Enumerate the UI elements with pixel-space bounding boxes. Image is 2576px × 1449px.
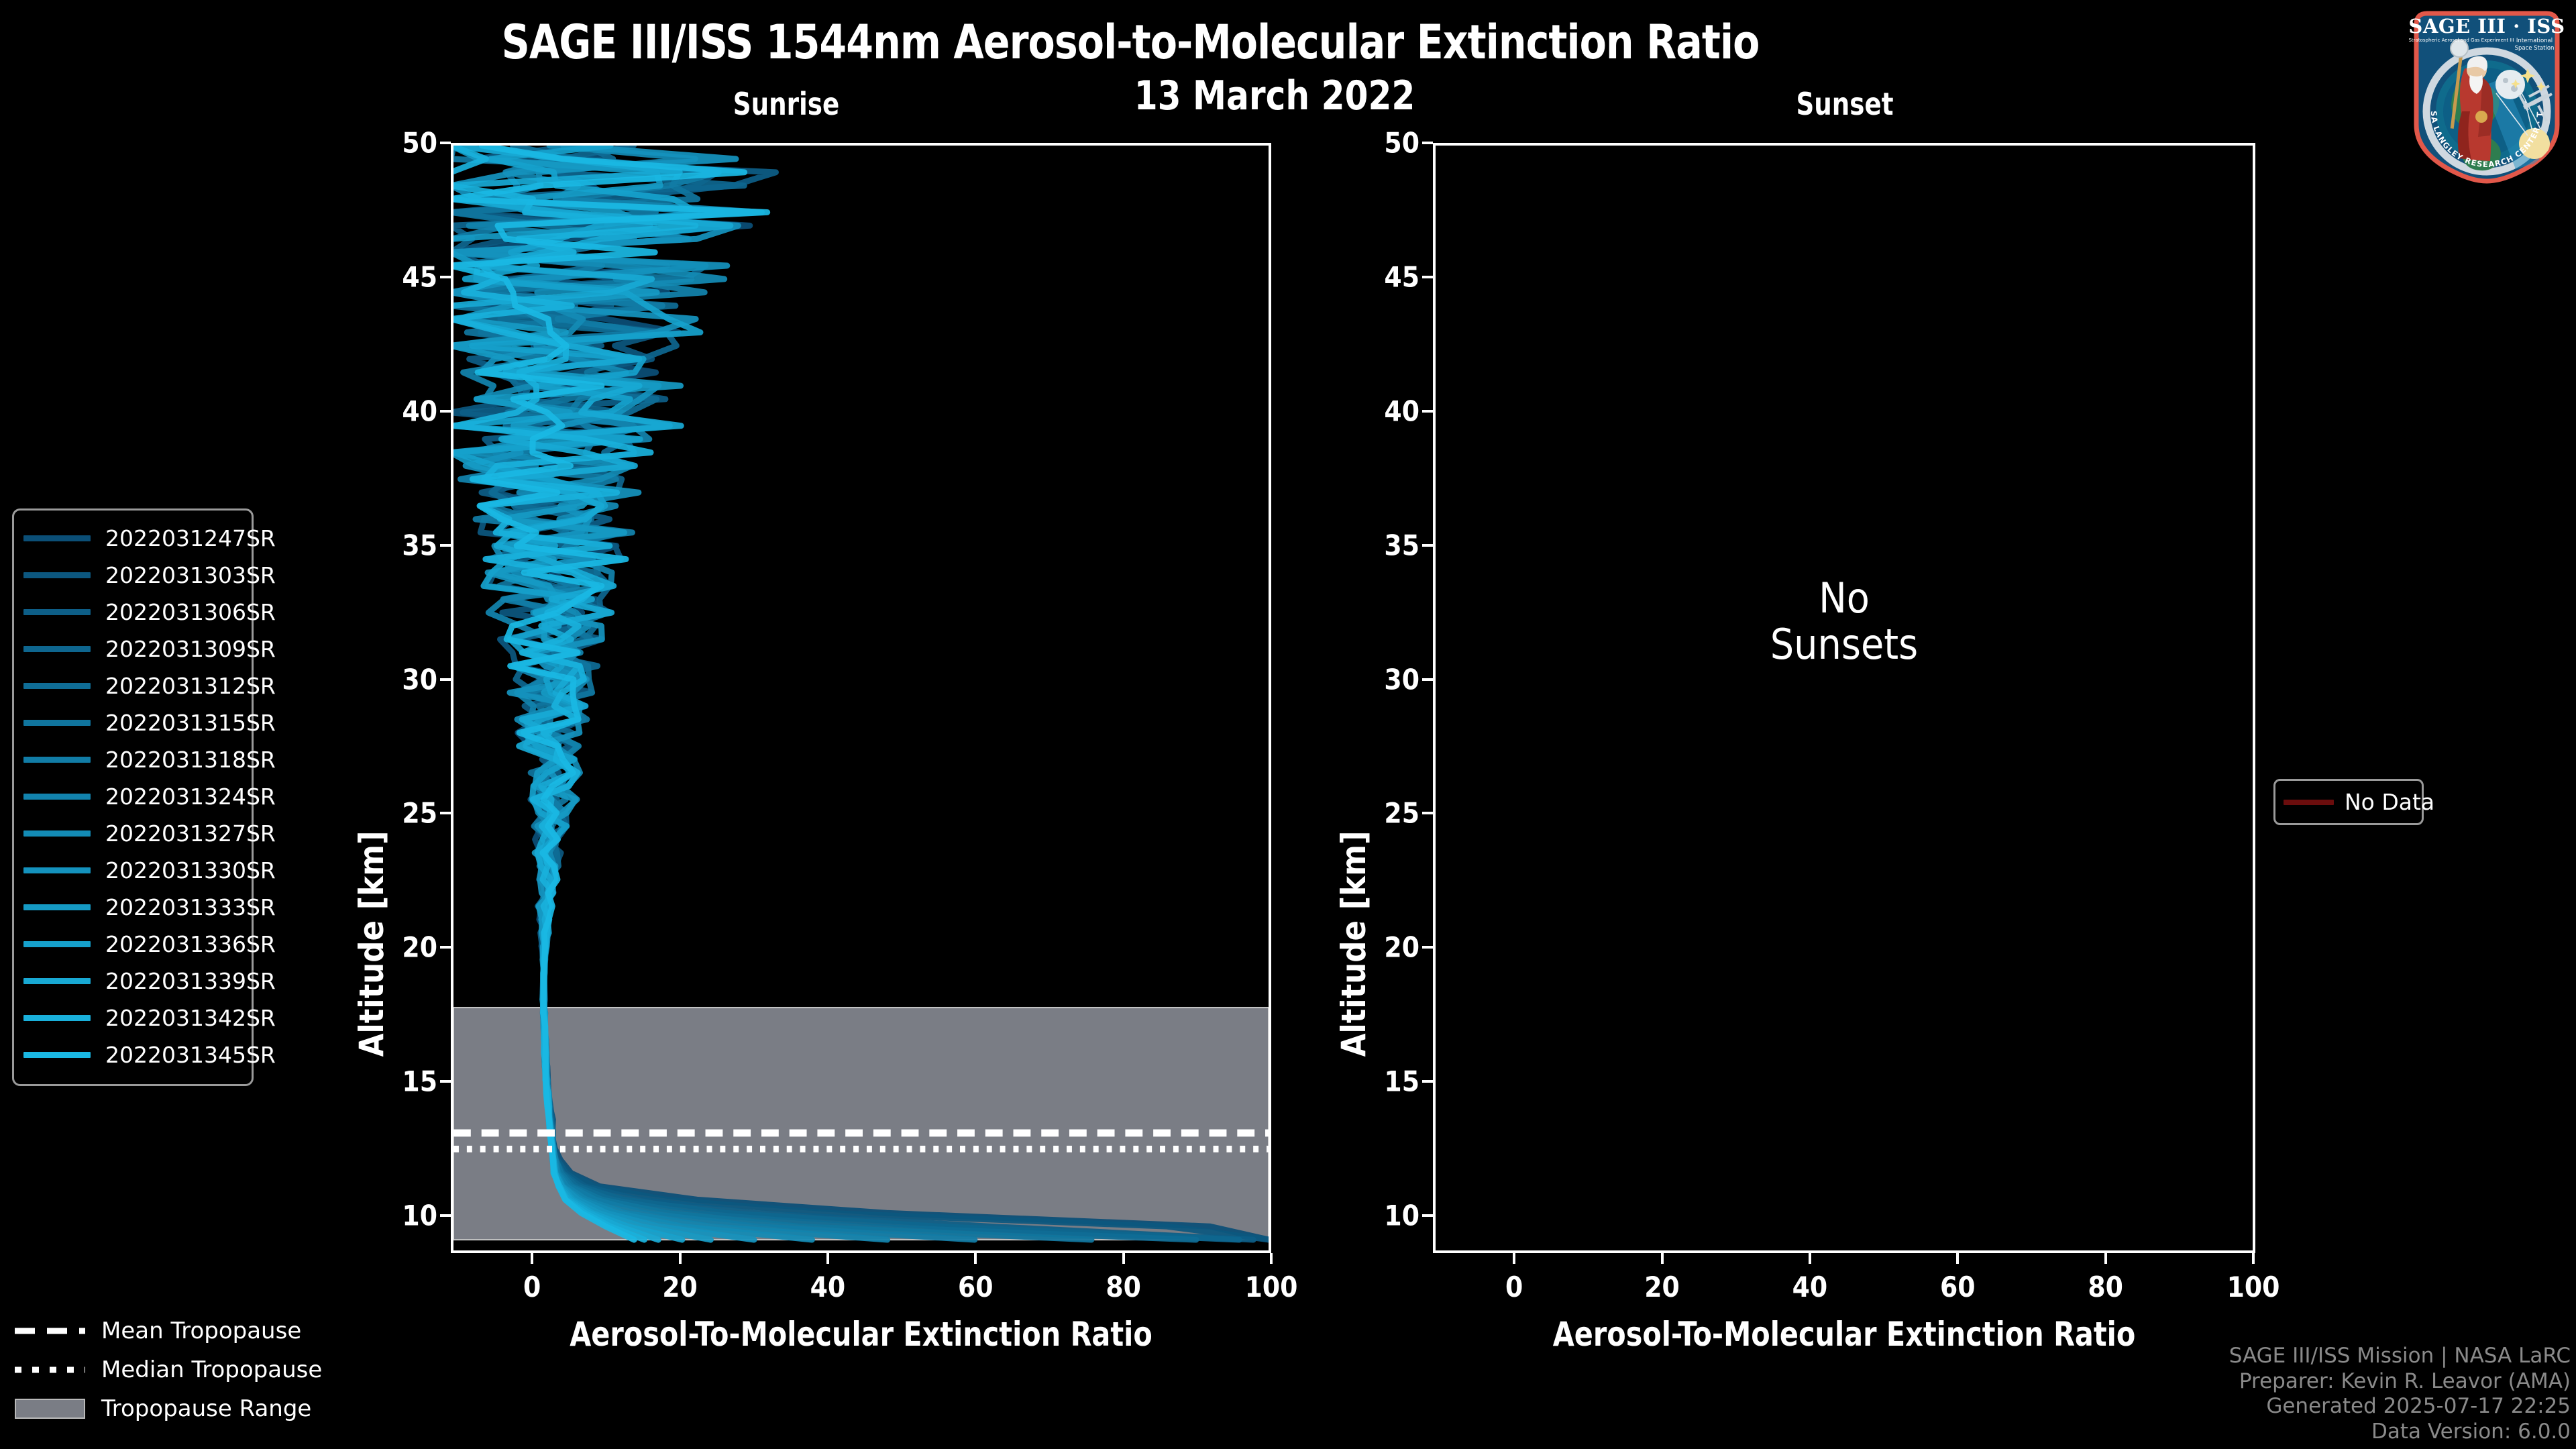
y-tick-label: 25 xyxy=(402,797,437,830)
y-tick-label: 15 xyxy=(402,1065,437,1098)
y-tick-mark xyxy=(440,544,451,547)
legend-color-swatch xyxy=(23,1015,91,1021)
y-tick-label: 50 xyxy=(1384,127,1419,160)
y-tick-mark xyxy=(440,1214,451,1217)
legend-color-swatch xyxy=(23,978,91,984)
y-tick-mark xyxy=(1422,410,1433,413)
sunrise-plot-canvas xyxy=(453,146,1269,1250)
x-tick-mark xyxy=(1513,1253,1515,1264)
x-axis-label-right: Aerosol-To-Molecular Extinction Ratio xyxy=(1466,1315,2222,1354)
legend-color-swatch xyxy=(23,941,91,947)
legend-item[interactable]: 2022031315SR xyxy=(23,704,245,741)
filled-box-icon xyxy=(15,1400,85,1417)
sunrise-panel-heading: Sunrise xyxy=(665,86,907,122)
y-tick-mark xyxy=(440,142,451,144)
y-tick-mark xyxy=(1422,276,1433,278)
footer-line-version: Data Version: 6.0.0 xyxy=(2229,1419,2571,1445)
legend-item-label: 2022031342SR xyxy=(105,1005,276,1031)
no-sunsets-line2: Sunsets xyxy=(1436,621,2253,667)
logo-subtitle-right-1: International xyxy=(2516,38,2553,44)
legend-item[interactable]: 2022031312SR xyxy=(23,667,245,704)
legend-color-swatch xyxy=(23,683,91,689)
y-tick-mark xyxy=(1422,1080,1433,1083)
x-tick-label: 20 xyxy=(662,1271,698,1303)
legend-color-swatch xyxy=(23,609,91,615)
y-tick-mark xyxy=(440,410,451,413)
legend-item[interactable]: 2022031339SR xyxy=(23,963,245,1000)
tropopause-legend-item: Tropopause Range xyxy=(15,1389,364,1428)
legend-color-swatch xyxy=(23,757,91,763)
no-data-legend[interactable]: No Data xyxy=(2273,779,2424,825)
tropopause-legend-item: Mean Tropopause xyxy=(15,1311,364,1350)
legend-item[interactable]: 2022031247SR xyxy=(23,520,245,557)
legend-item-label: 2022031312SR xyxy=(105,673,276,699)
legend-color-swatch xyxy=(23,867,91,873)
x-tick-mark xyxy=(826,1253,829,1264)
y-tick-mark xyxy=(1422,946,1433,949)
legend-item-label: 2022031327SR xyxy=(105,820,276,847)
x-tick-label: 100 xyxy=(2227,1271,2280,1303)
legend-item-label: 2022031345SR xyxy=(105,1042,276,1068)
x-tick-label: 60 xyxy=(958,1271,994,1303)
logo-subtitle-right-2: Space Station xyxy=(2515,45,2555,52)
footer-attribution: SAGE III/ISS Mission | NASA LaRC Prepare… xyxy=(2229,1344,2571,1445)
y-tick-label: 45 xyxy=(402,260,437,293)
x-tick-label: 20 xyxy=(1644,1271,1680,1303)
y-tick-mark xyxy=(440,276,451,278)
x-tick-mark xyxy=(974,1253,977,1264)
sunrise-plot xyxy=(451,143,1271,1253)
y-tick-mark xyxy=(440,812,451,814)
y-tick-mark xyxy=(1422,142,1433,144)
y-tick-label: 40 xyxy=(402,394,437,427)
x-tick-mark xyxy=(2104,1253,2107,1264)
legend-color-swatch xyxy=(23,794,91,800)
legend-item[interactable]: 2022031306SR xyxy=(23,594,245,631)
legend-color-swatch xyxy=(23,535,91,541)
legend-item-label: 2022031247SR xyxy=(105,525,276,551)
legend-item[interactable]: 2022031309SR xyxy=(23,631,245,667)
tropopause-legend-item: Median Tropopause xyxy=(15,1350,364,1389)
y-tick-label: 35 xyxy=(402,529,437,561)
y-tick-label: 35 xyxy=(1384,529,1419,561)
x-tick-label: 60 xyxy=(1940,1271,1976,1303)
no-sunsets-line1: No xyxy=(1436,575,2253,621)
date-subtitle: 13 March 2022 xyxy=(1025,72,1524,119)
legend-item-label: 2022031315SR xyxy=(105,710,276,736)
logo-subtitle-left: Stratospheric Aerosol and Gas Experiment… xyxy=(2408,38,2514,43)
legend-item-label: 2022031339SR xyxy=(105,968,276,994)
y-tick-mark xyxy=(1422,812,1433,814)
y-tick-mark xyxy=(1422,544,1433,547)
tropopause-legend-label: Mean Tropopause xyxy=(101,1318,301,1344)
legend-color-swatch xyxy=(23,904,91,910)
legend-item-label: 2022031309SR xyxy=(105,636,276,662)
y-tick-label: 15 xyxy=(1384,1065,1419,1098)
y-tick-label: 20 xyxy=(402,931,437,964)
y-tick-mark xyxy=(1422,1214,1433,1217)
x-tick-mark xyxy=(679,1253,682,1264)
x-tick-label: 80 xyxy=(2088,1271,2123,1303)
y-tick-label: 10 xyxy=(402,1199,437,1232)
legend-item[interactable]: 2022031318SR xyxy=(23,741,245,778)
tropopause-legend-label: Tropopause Range xyxy=(101,1395,311,1422)
x-axis-label-left: Aerosol-To-Molecular Extinction Ratio xyxy=(484,1315,1238,1354)
legend-color-swatch xyxy=(23,646,91,652)
x-tick-mark xyxy=(531,1253,533,1264)
x-tick-label: 40 xyxy=(1792,1271,1828,1303)
x-tick-mark xyxy=(1956,1253,1959,1264)
footer-line-generated: Generated 2025-07-17 22:25 xyxy=(2229,1394,2571,1419)
tropopause-legend-label: Median Tropopause xyxy=(101,1356,322,1383)
legend-item[interactable]: 2022031324SR xyxy=(23,778,245,815)
legend-color-swatch xyxy=(23,720,91,726)
x-tick-mark xyxy=(1270,1253,1273,1264)
x-tick-mark xyxy=(1809,1253,1811,1264)
y-axis-label-left: Altitude [km] xyxy=(352,830,391,1057)
legend-item[interactable]: 2022031303SR xyxy=(23,557,245,594)
x-tick-label: 80 xyxy=(1106,1271,1141,1303)
sage-iii-iss-mission-patch-logo: BALL · NASA LANGLEY RESEARCH CENTER · TA… xyxy=(2403,4,2571,185)
legend-item-label: 2022031318SR xyxy=(105,747,276,773)
page-title: SAGE III/ISS 1544nm Aerosol-to-Molecular… xyxy=(79,15,2182,70)
legend-item-label: 2022031330SR xyxy=(105,857,276,883)
mission-patch-icon: BALL · NASA LANGLEY RESEARCH CENTER · TA… xyxy=(2403,4,2571,185)
series-legend[interactable]: 2022031247SR2022031303SR2022031306SR2022… xyxy=(12,508,254,1086)
y-tick-label: 45 xyxy=(1384,260,1419,293)
x-tick-mark xyxy=(2252,1253,2255,1264)
no-data-swatch xyxy=(2284,800,2334,805)
y-axis-label-right: Altitude [km] xyxy=(1334,830,1373,1057)
y-tick-label: 20 xyxy=(1384,931,1419,964)
legend-item-label: 2022031333SR xyxy=(105,894,276,920)
legend-item[interactable]: 2022031330SR xyxy=(23,852,245,889)
y-tick-label: 25 xyxy=(1384,797,1419,830)
legend-color-swatch xyxy=(23,830,91,837)
no-data-label: No Data xyxy=(2345,789,2434,815)
y-tick-mark xyxy=(1422,678,1433,681)
legend-item-label: 2022031306SR xyxy=(105,599,276,625)
x-tick-label: 0 xyxy=(1505,1271,1523,1303)
footer-line-preparer: Preparer: Kevin R. Leavor (AMA) xyxy=(2229,1369,2571,1395)
y-tick-label: 30 xyxy=(402,663,437,696)
y-tick-label: 40 xyxy=(1384,394,1419,427)
legend-color-swatch xyxy=(23,572,91,578)
x-tick-label: 100 xyxy=(1245,1271,1298,1303)
dashed-line-icon xyxy=(15,1322,85,1340)
sunset-plot: No Sunsets xyxy=(1433,143,2255,1253)
legend-item-label: 2022031303SR xyxy=(105,562,276,588)
legend-item[interactable]: 2022031342SR xyxy=(23,1000,245,1036)
dotted-line-icon xyxy=(15,1361,85,1379)
logo-title: SAGE III · ISS xyxy=(2408,15,2565,38)
y-tick-label: 10 xyxy=(1384,1199,1419,1232)
legend-item-label: 2022031324SR xyxy=(105,784,276,810)
sunset-panel-heading: Sunset xyxy=(1724,86,1966,122)
x-tick-mark xyxy=(1661,1253,1664,1264)
y-tick-mark xyxy=(440,678,451,681)
legend-item[interactable]: 2022031345SR xyxy=(23,1036,245,1073)
tropopause-legend: Mean TropopauseMedian TropopauseTropopau… xyxy=(15,1311,364,1428)
x-tick-mark xyxy=(1122,1253,1125,1264)
y-tick-label: 50 xyxy=(402,127,437,160)
x-tick-label: 40 xyxy=(810,1271,846,1303)
legend-item-label: 2022031336SR xyxy=(105,931,276,957)
no-sunsets-message: No Sunsets xyxy=(1436,575,2253,668)
x-tick-label: 0 xyxy=(523,1271,541,1303)
footer-line-mission: SAGE III/ISS Mission | NASA LaRC xyxy=(2229,1344,2571,1369)
y-tick-mark xyxy=(440,1080,451,1083)
legend-item[interactable]: 2022031327SR xyxy=(23,815,245,852)
y-tick-mark xyxy=(440,946,451,949)
legend-item[interactable]: 2022031336SR xyxy=(23,926,245,963)
legend-color-swatch xyxy=(23,1052,91,1058)
legend-item[interactable]: 2022031333SR xyxy=(23,889,245,926)
y-tick-label: 30 xyxy=(1384,663,1419,696)
